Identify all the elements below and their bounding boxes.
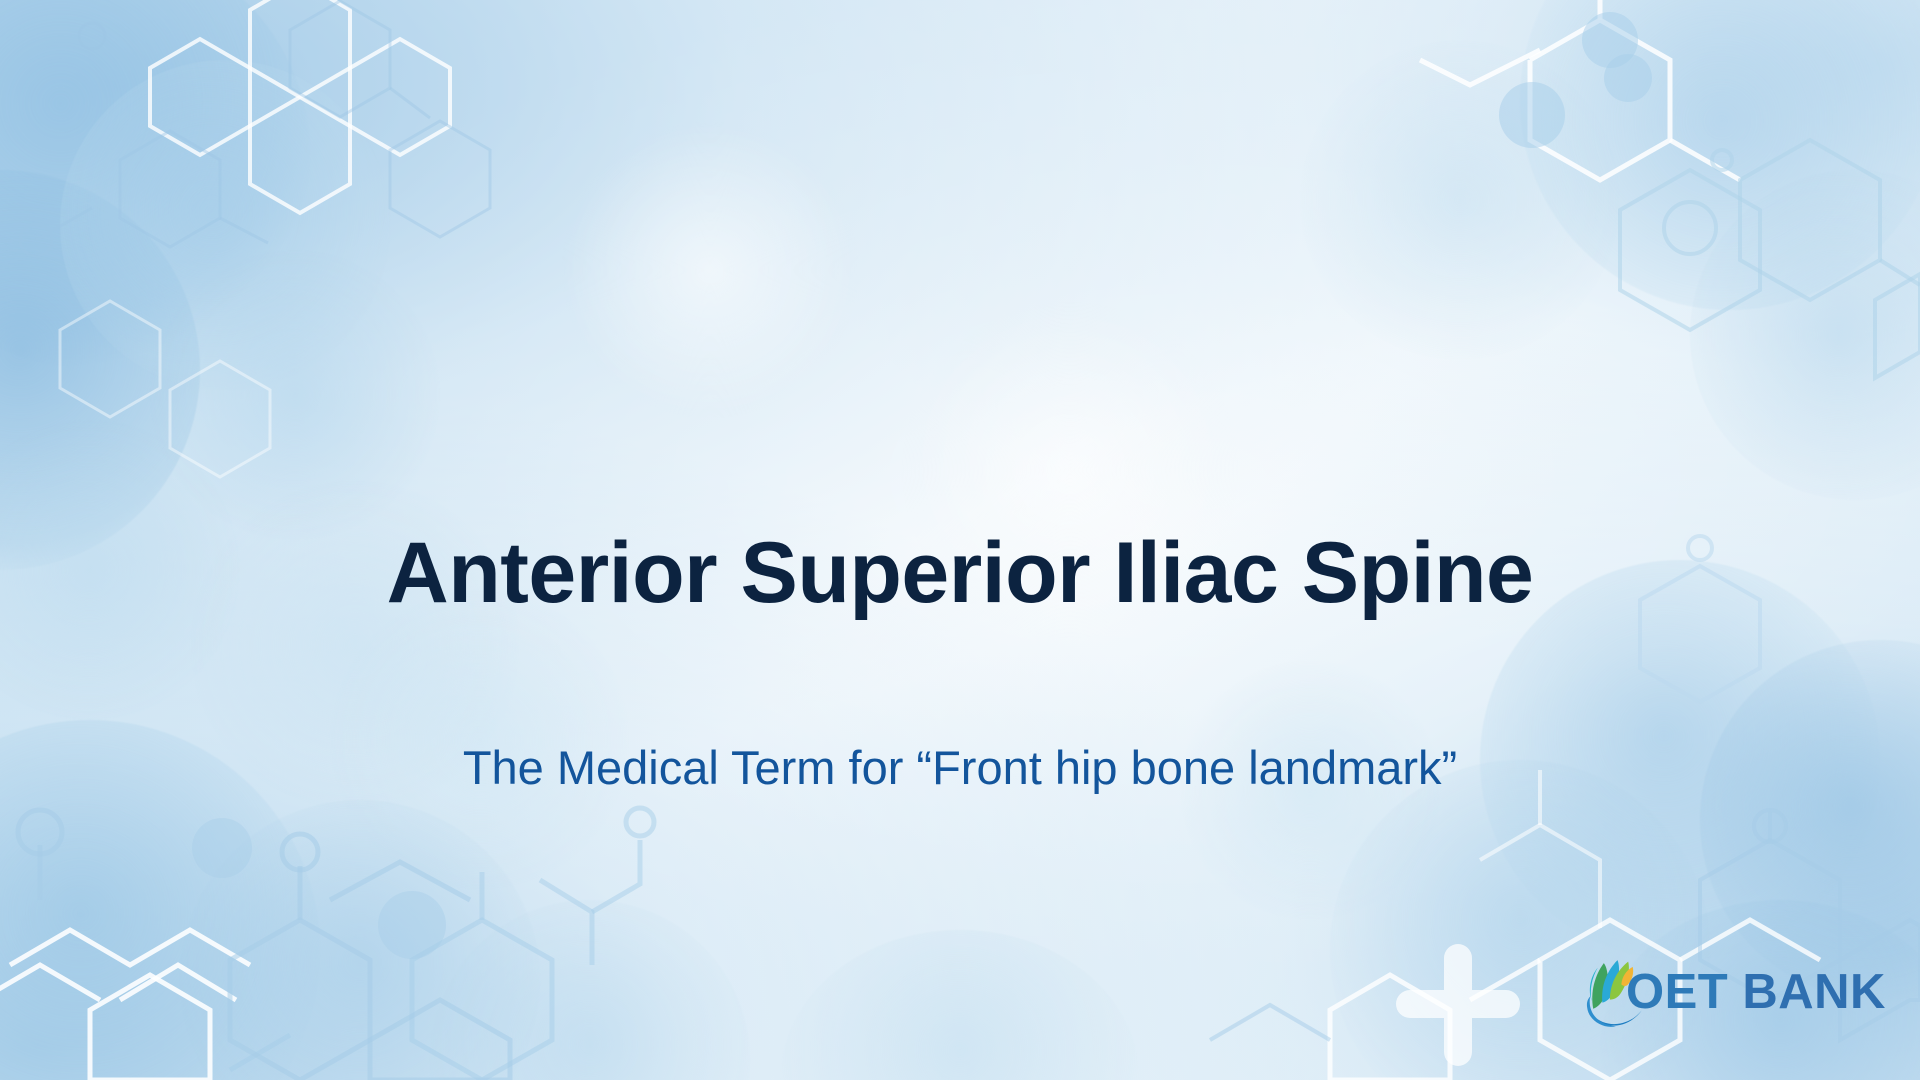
page-title: Anterior Superior Iliac Spine <box>0 528 1920 619</box>
logo-wordmark: OET BANK <box>1626 968 1886 1017</box>
logo-word-bank: BANK <box>1742 965 1886 1019</box>
slide-content: Anterior Superior Iliac Spine The Medica… <box>0 0 1920 1080</box>
slide-subtitle: The Medical Term for “Front hip bone lan… <box>0 739 1920 798</box>
oet-bank-logo: OET BANK <box>1578 950 1886 1034</box>
logo-word-oet: OET <box>1626 965 1728 1019</box>
presentation-slide: Anterior Superior Iliac Spine The Medica… <box>0 0 1920 1080</box>
